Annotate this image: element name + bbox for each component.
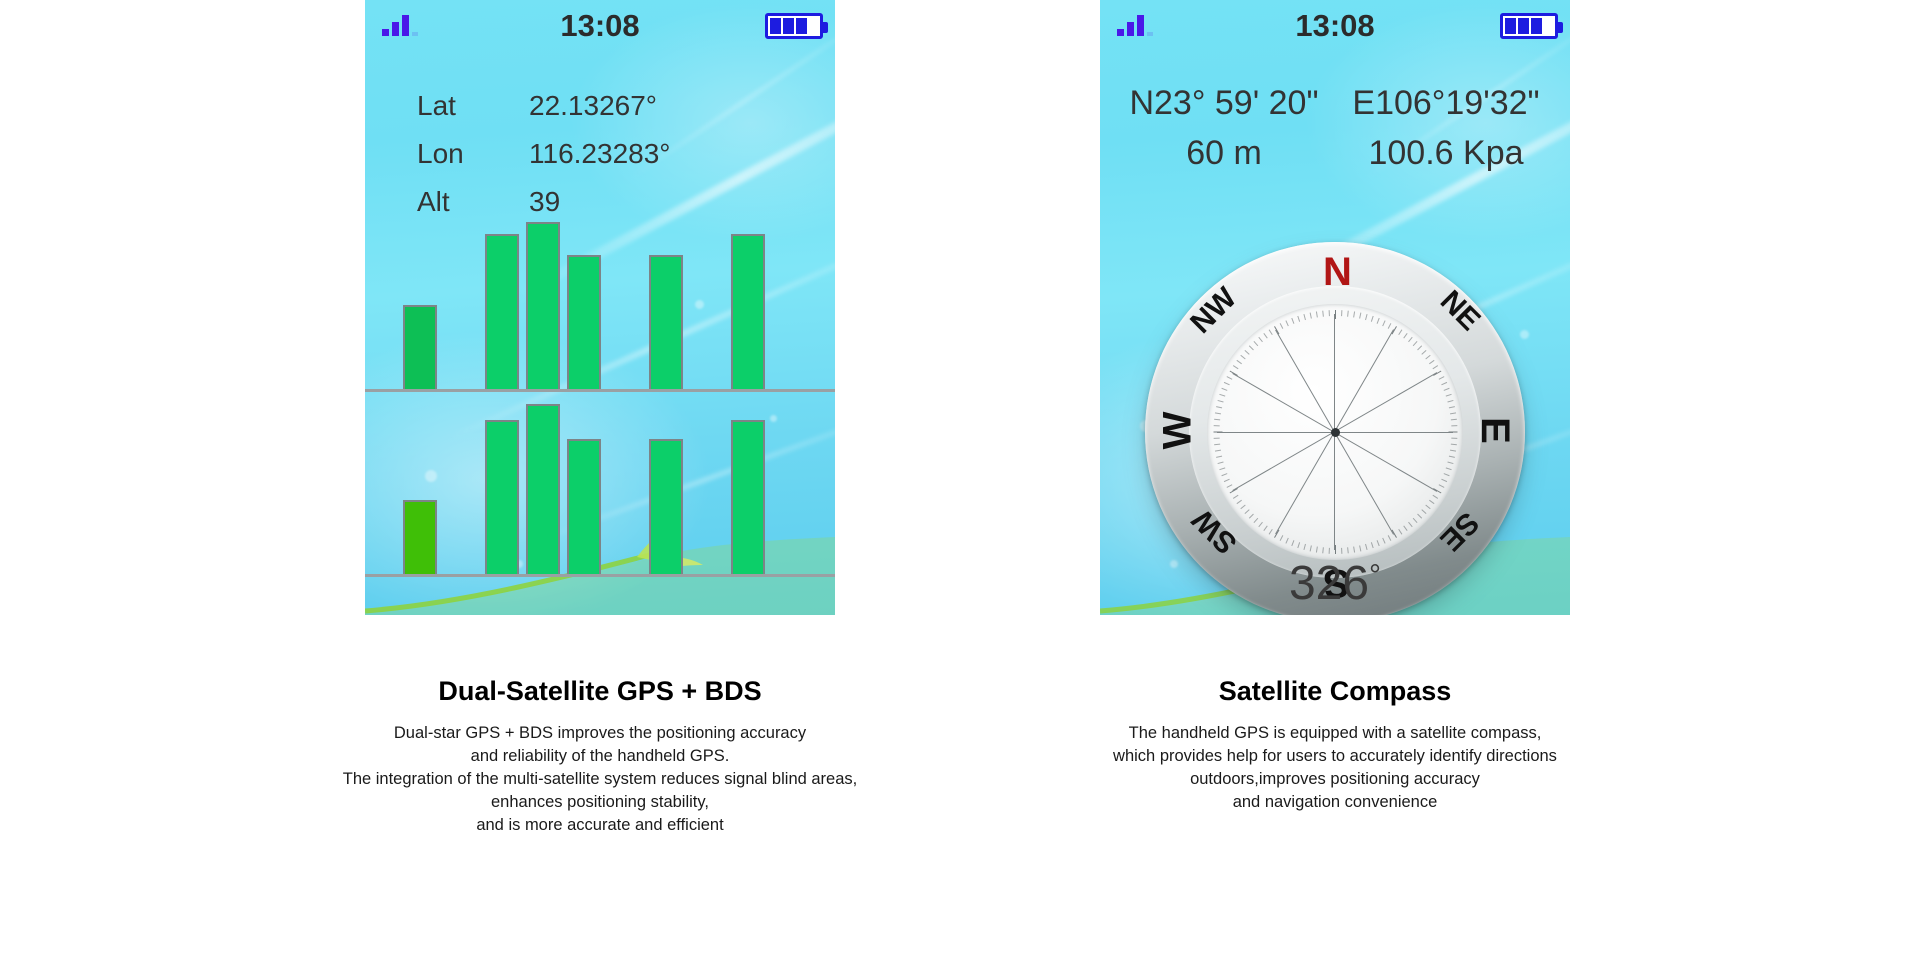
- compass-tick: [1417, 345, 1422, 350]
- compass-tick: [1216, 406, 1222, 408]
- compass-tick: [1449, 406, 1455, 408]
- signal-bar: [485, 420, 519, 574]
- panel-satellite-compass: 13:08 N23° 59' 20" E106°19'32" 60 m 100.…: [1100, 0, 1570, 615]
- compass-tick: [1359, 313, 1361, 319]
- compass-tick: [1263, 333, 1267, 338]
- compass-tick: [1451, 419, 1457, 421]
- compass-tick: [1382, 538, 1385, 544]
- caption-line: which provides help for users to accurat…: [1040, 745, 1630, 768]
- compass-tick: [1214, 425, 1220, 426]
- compass-tick: [1382, 320, 1385, 326]
- compass-tick: [1218, 400, 1224, 403]
- caption-body-gps: Dual-star GPS + BDS improves the positio…: [305, 722, 895, 837]
- compass-face: [1207, 304, 1463, 560]
- compass-tick: [1310, 313, 1312, 319]
- compass-tick: [1365, 314, 1368, 320]
- compass-tick: [1310, 545, 1312, 551]
- compass-tick: [1388, 323, 1392, 329]
- caption-title-compass: Satellite Compass: [1100, 676, 1570, 707]
- compass-hub: [1331, 428, 1340, 437]
- bar-group-lower: [365, 394, 835, 574]
- compass-tick: [1240, 505, 1245, 510]
- gps-readout: Lat 22.13267° Lon 116.23283° Alt 39: [417, 82, 670, 226]
- compass-tick: [1347, 311, 1349, 317]
- compass-tick: [1429, 360, 1434, 364]
- compass-tick: [1249, 345, 1254, 350]
- compass-tick: [1371, 542, 1374, 548]
- compass-tick: [1413, 518, 1418, 523]
- compass-tick: [1280, 535, 1284, 541]
- compass-tick: [1214, 438, 1220, 439]
- compass-tick: [1291, 318, 1294, 324]
- compass-tick: [1353, 311, 1355, 317]
- compass-tick: [1224, 479, 1230, 482]
- compass-tick: [1449, 456, 1455, 458]
- compass-tick: [1253, 518, 1258, 523]
- signal-bar: [731, 420, 765, 574]
- compass-tick: [1335, 545, 1336, 554]
- battery-icon: [1500, 13, 1558, 39]
- compass-tick: [1303, 314, 1306, 320]
- battery-icon: [765, 13, 823, 39]
- compass-tick: [1446, 467, 1452, 470]
- readout-key-lon: Lon: [417, 130, 529, 178]
- compass-tick: [1341, 548, 1342, 554]
- compass-tick: [1280, 323, 1284, 329]
- panel-dual-satellite-gps: 13:08 Lat 22.13267° Lon 116.23283° Alt 3…: [365, 0, 835, 615]
- bar-group-upper: [365, 219, 835, 389]
- compass-tick: [1285, 320, 1288, 326]
- compass-tick: [1408, 522, 1413, 527]
- compass-tick: [1377, 318, 1380, 324]
- compass-tick: [1221, 473, 1227, 476]
- compass-tick: [1421, 509, 1426, 514]
- compass-tick: [1215, 412, 1221, 414]
- compass-tick: [1377, 540, 1380, 546]
- compass-tick: [1291, 540, 1294, 546]
- caption-title-gps: Dual-Satellite GPS + BDS: [365, 676, 835, 707]
- compass-tick: [1359, 545, 1361, 551]
- caption-body-compass: The handheld GPS is equipped with a sate…: [1040, 722, 1630, 814]
- compass-tick: [1444, 473, 1450, 476]
- status-bar: 13:08: [1100, 0, 1570, 50]
- compass-tick: [1451, 438, 1457, 439]
- compass-heading: 326°: [1100, 556, 1570, 611]
- compass-tick: [1303, 544, 1306, 550]
- signal-bar: [649, 439, 683, 574]
- compass-tick: [1439, 484, 1445, 488]
- signal-bar: [731, 234, 765, 389]
- compass-tick: [1329, 310, 1330, 316]
- compass-tick: [1371, 316, 1374, 322]
- readout-key-alt: Alt: [417, 178, 529, 226]
- compass-tick: [1447, 462, 1453, 465]
- compass-tick: [1227, 484, 1233, 488]
- heading-unit: °: [1369, 559, 1381, 592]
- caption-line: and is more accurate and efficient: [305, 814, 895, 837]
- compass-tick: [1441, 479, 1447, 482]
- compass-tick: [1417, 514, 1422, 519]
- caption-line: outdoors,improves positioning accuracy: [1040, 768, 1630, 791]
- compass-tick: [1233, 495, 1239, 499]
- compass-tick: [1227, 376, 1233, 380]
- compass-label-north: N: [1323, 250, 1352, 295]
- compass-tick: [1245, 350, 1250, 355]
- compass-tick: [1297, 316, 1300, 322]
- compass-tick: [1441, 382, 1447, 385]
- readout-row: Lon 116.23283°: [417, 130, 670, 178]
- readout-value-lat: 22.13267°: [529, 82, 657, 130]
- signal-chart-lower: [365, 397, 835, 577]
- compass-tick: [1221, 388, 1227, 391]
- compass-tick: [1403, 526, 1407, 531]
- signal-bar: [567, 439, 601, 574]
- compass-tick: [1403, 333, 1407, 338]
- signal-bar: [567, 255, 601, 389]
- readout-row: Alt 39: [417, 178, 670, 226]
- compass-tick: [1388, 535, 1392, 541]
- compass-tick: [1258, 522, 1263, 527]
- compass-tick: [1215, 450, 1221, 452]
- compass-tick: [1219, 467, 1225, 470]
- compass-tick: [1316, 546, 1318, 552]
- compass-tick: [1450, 412, 1456, 414]
- compass-tick: [1237, 360, 1242, 364]
- longitude-dms: E106°19'32": [1348, 78, 1544, 128]
- signal-bar: [403, 500, 437, 574]
- compass-tick: [1433, 365, 1439, 369]
- compass-tick: [1269, 529, 1273, 535]
- compass-tick: [1224, 382, 1230, 385]
- compass-tick: [1253, 341, 1258, 346]
- compass-tick: [1216, 456, 1222, 458]
- signal-bar: [526, 404, 560, 574]
- compass-tick: [1329, 548, 1330, 554]
- heading-value: 326: [1289, 557, 1369, 610]
- compass-tick: [1322, 547, 1324, 553]
- compass-tick: [1433, 495, 1439, 499]
- compass-tick: [1285, 538, 1288, 544]
- compass-coordinates: N23° 59' 20" E106°19'32" 60 m 100.6 Kpa: [1100, 78, 1570, 178]
- caption-line: The handheld GPS is equipped with a sate…: [1040, 722, 1630, 745]
- readout-value-alt: 39: [529, 178, 560, 226]
- compass-tick: [1429, 500, 1434, 504]
- compass-tick: [1233, 365, 1239, 369]
- page-root: 13:08 Lat 22.13267° Lon 116.23283° Alt 3…: [0, 0, 1920, 960]
- caption-line: and reliability of the handheld GPS.: [305, 745, 895, 768]
- device-screen-gps: 13:08 Lat 22.13267° Lon 116.23283° Alt 3…: [365, 0, 835, 615]
- coords-row: 60 m 100.6 Kpa: [1100, 128, 1570, 178]
- compass-label-west: W: [1155, 412, 1200, 450]
- device-screen-compass: 13:08 N23° 59' 20" E106°19'32" 60 m 100.…: [1100, 0, 1570, 615]
- readout-row: Lat 22.13267°: [417, 82, 670, 130]
- compass-tick: [1413, 341, 1418, 346]
- compass-tick: [1444, 388, 1450, 391]
- altitude-value: 60 m: [1126, 128, 1322, 178]
- compass-tick: [1425, 505, 1430, 510]
- chart-baseline: [365, 389, 835, 392]
- compass-tick: [1316, 311, 1318, 317]
- chart-baseline: [365, 574, 835, 577]
- caption-line: enhances positioning stability,: [305, 791, 895, 814]
- compass-tick: [1447, 400, 1453, 403]
- compass-tick: [1446, 394, 1452, 397]
- compass-tick: [1353, 546, 1355, 552]
- caption-line: Dual-star GPS + BDS improves the positio…: [305, 722, 895, 745]
- compass-tick: [1269, 329, 1273, 335]
- compass-tick: [1263, 526, 1267, 531]
- pressure-value: 100.6 Kpa: [1348, 128, 1544, 178]
- compass-tick: [1341, 310, 1342, 316]
- compass-tick: [1451, 425, 1457, 426]
- readout-key-lat: Lat: [417, 82, 529, 130]
- compass-tick: [1421, 350, 1426, 355]
- compass-tick: [1214, 444, 1220, 446]
- compass-tick: [1297, 542, 1300, 548]
- compass-tick: [1214, 419, 1220, 421]
- compass-tick: [1237, 500, 1242, 504]
- caption-line: The integration of the multi-satellite s…: [305, 768, 895, 791]
- compass-tick: [1408, 337, 1413, 342]
- signal-bar: [403, 305, 437, 389]
- compass-tick: [1219, 394, 1225, 397]
- signal-bar: [485, 234, 519, 389]
- coords-row: N23° 59' 20" E106°19'32": [1100, 78, 1570, 128]
- compass-tick: [1240, 355, 1245, 360]
- compass-tick: [1322, 311, 1324, 317]
- compass-tick: [1451, 444, 1457, 446]
- signal-bar: [649, 255, 683, 389]
- compass-tick: [1335, 310, 1336, 319]
- latitude-dms: N23° 59' 20": [1126, 78, 1322, 128]
- compass-label-east: E: [1472, 417, 1517, 444]
- signal-chart-upper: [365, 222, 835, 392]
- compass-tick: [1347, 547, 1349, 553]
- compass-tick: [1439, 376, 1445, 380]
- compass-tick: [1218, 462, 1224, 465]
- compass-tick: [1249, 514, 1254, 519]
- status-bar: 13:08: [365, 0, 835, 50]
- compass-tick: [1425, 355, 1430, 360]
- signal-bar: [526, 222, 560, 389]
- readout-value-lon: 116.23283°: [529, 130, 670, 178]
- compass-tick: [1365, 544, 1368, 550]
- compass-tick: [1245, 509, 1250, 514]
- compass-tick: [1398, 329, 1402, 335]
- satellite-signal-charts: [365, 222, 835, 615]
- compass-tick: [1450, 450, 1456, 452]
- caption-line: and navigation convenience: [1040, 791, 1630, 814]
- compass-tick: [1398, 529, 1402, 535]
- compass-tick: [1258, 337, 1263, 342]
